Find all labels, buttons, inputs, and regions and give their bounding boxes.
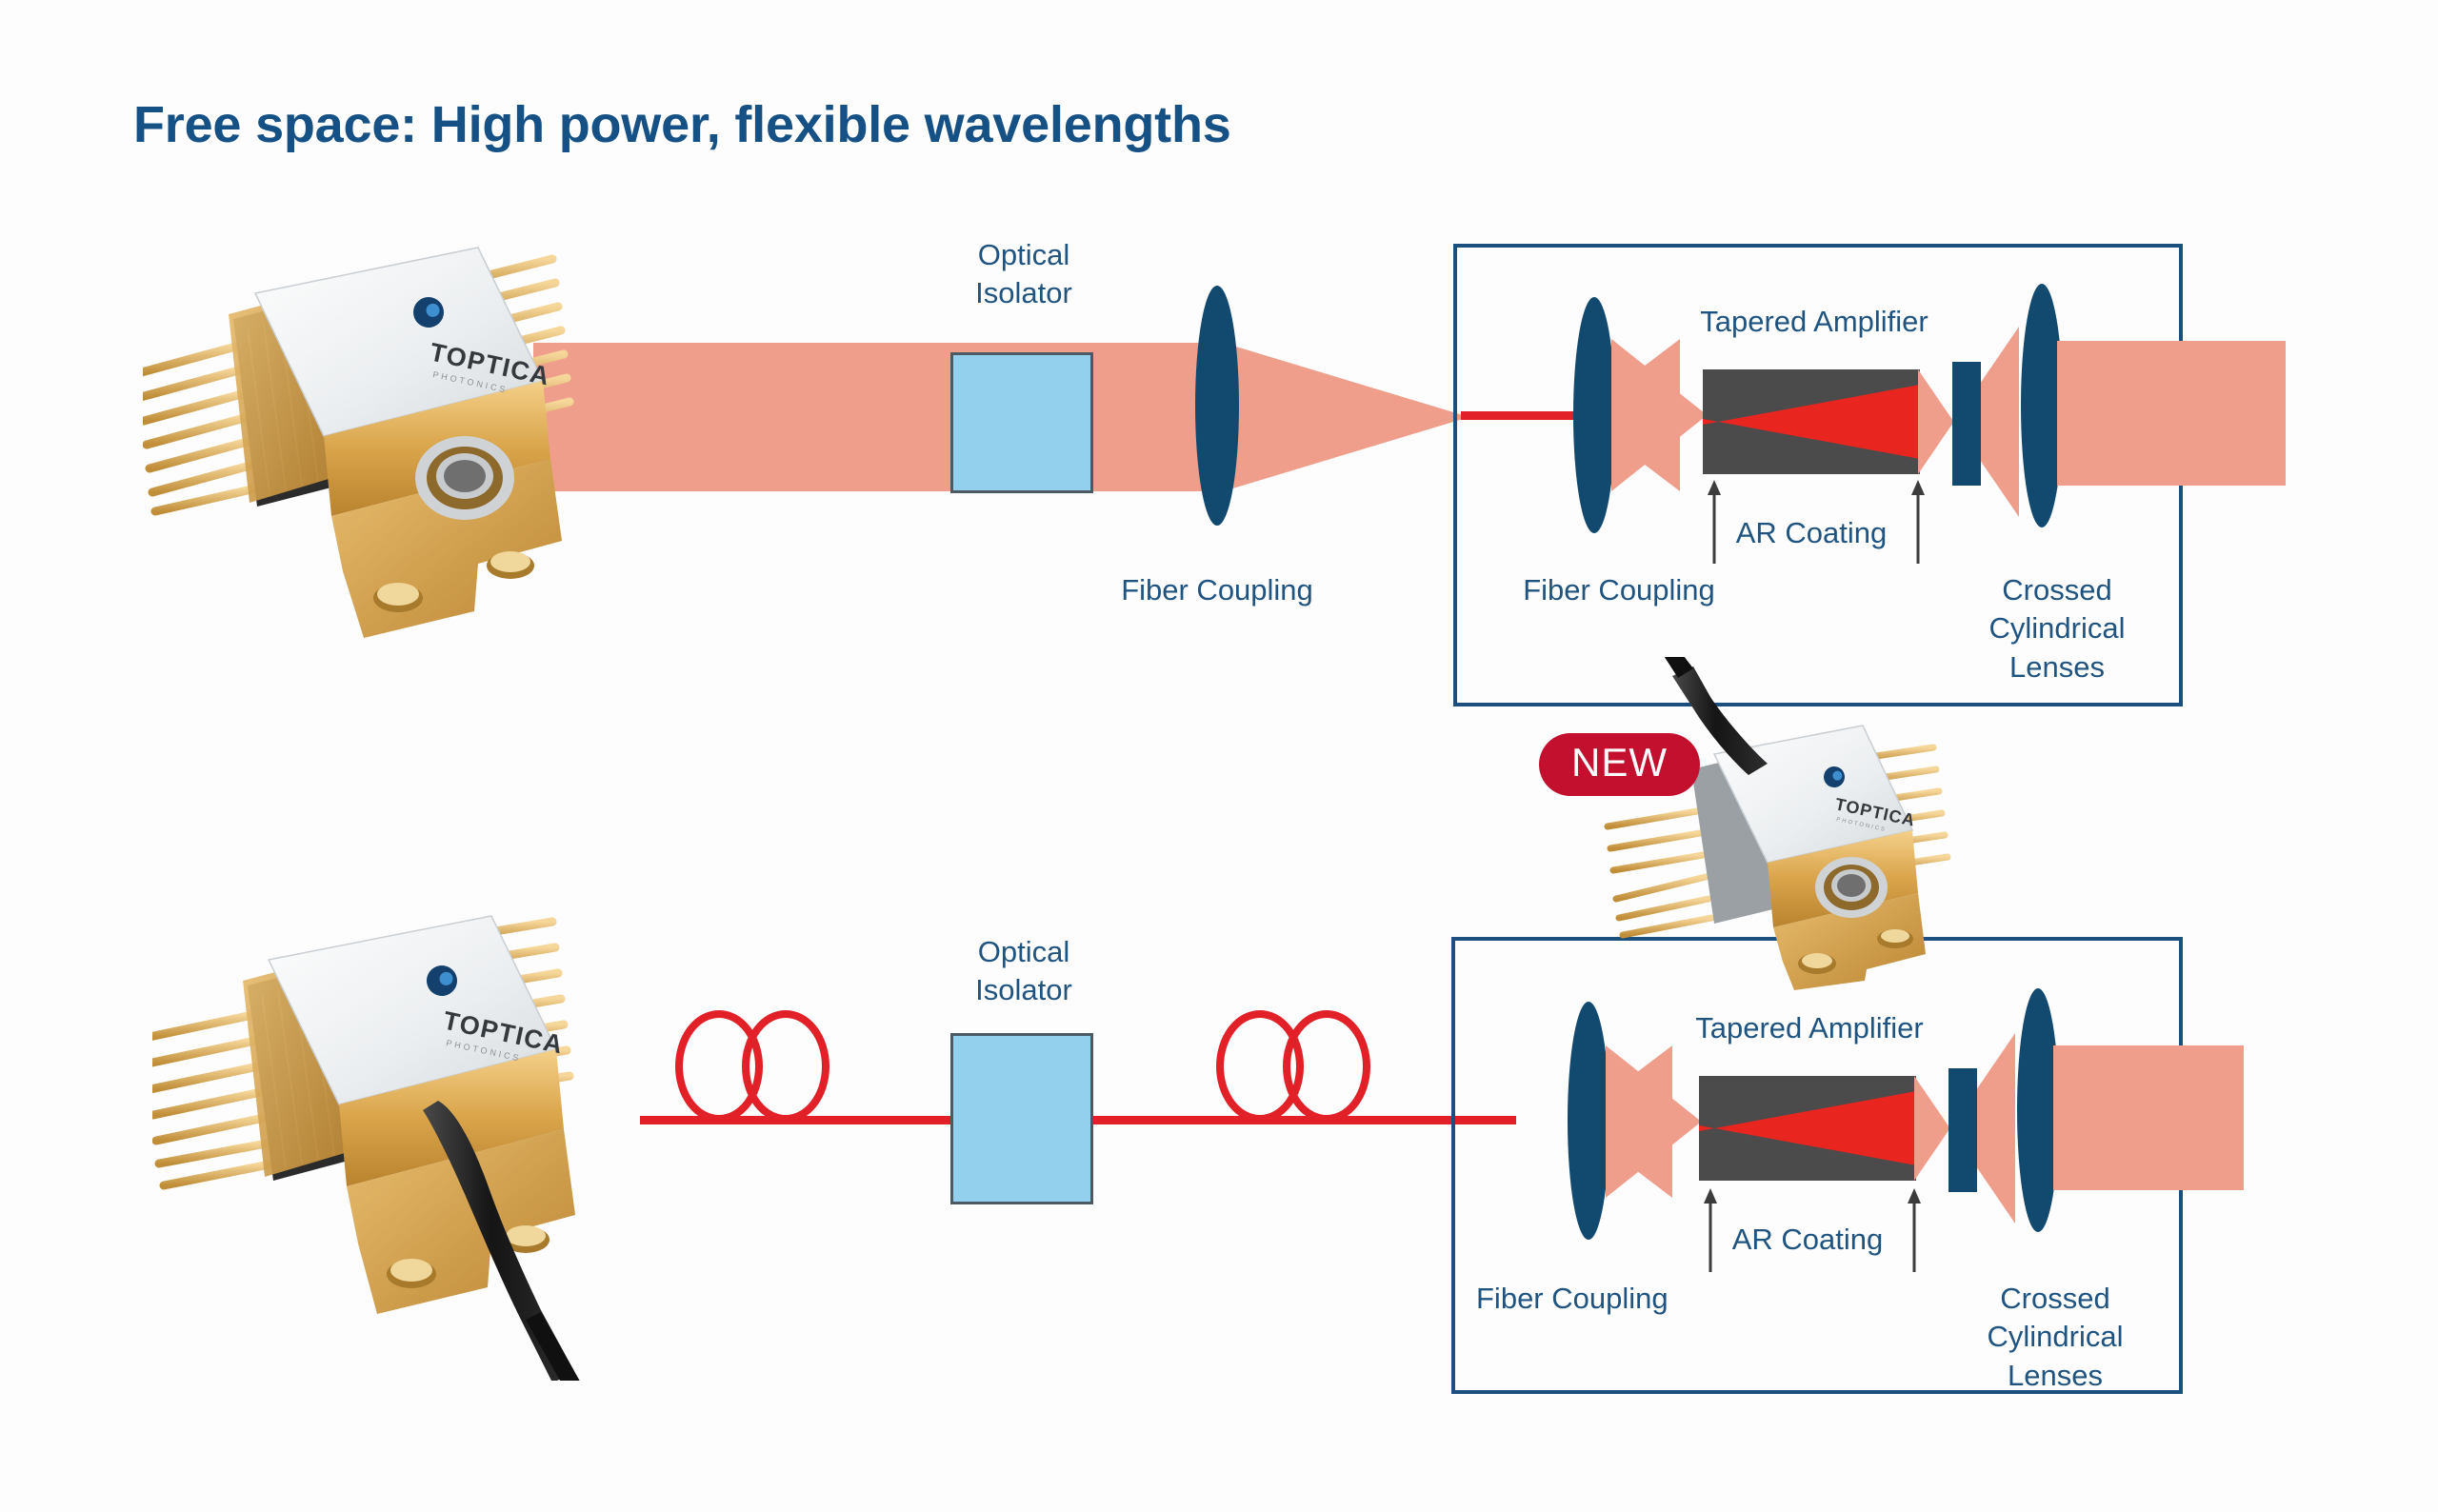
diagram-canvas: Free space: High power, flexible wavelen… [0, 0, 2438, 1512]
amplifier-taper-top [1703, 369, 1920, 474]
fiber-loop-right [1208, 1009, 1389, 1124]
cylindrical-lens-bar-bottom [1948, 1068, 1977, 1192]
optical-isolator-top [950, 352, 1093, 493]
tapered-amplifier-label-top: Tapered Amplifier [1671, 303, 1957, 341]
beam-focus-into-chip-top [1611, 339, 1707, 491]
cylindrical-lens-bar-top [1952, 362, 1981, 486]
beam-output-bottom [2053, 1045, 2244, 1190]
amplifier-taper-bottom [1699, 1076, 1916, 1181]
laser-diode-module-bottom: TOPTICA PHOTONICS [152, 914, 686, 1381]
tapered-amplifier-label-bottom: Tapered Amplifier [1667, 1009, 1952, 1047]
optical-isolator-label-bottom: Optical Isolator [914, 933, 1133, 1010]
crossed-cylindrical-lenses-label-bottom: Crossed Cylindrical Lenses [1931, 1280, 2179, 1395]
fiber-coupling-label-outer-top: Fiber Coupling [1074, 571, 1360, 609]
lens-fiber-coupling-outer-top [1195, 286, 1239, 526]
laser-diode-module-new: TOPTICA PHOTONICS [1581, 657, 2000, 990]
lens-fiber-coupling-inner-top [1573, 297, 1615, 533]
ar-coating-label-bottom: AR Coating [1665, 1221, 1950, 1259]
diode-pins-left-new [1608, 811, 1711, 935]
optical-isolator-bottom [950, 1033, 1093, 1204]
beam-focus-into-chip-bottom [1606, 1045, 1701, 1198]
page-title: Free space: High power, flexible wavelen… [133, 95, 1231, 154]
ar-coating-label-top: AR Coating [1669, 514, 1954, 552]
optical-isolator-label-top: Optical Isolator [914, 236, 1133, 313]
beam-output-top [2057, 341, 2286, 486]
fiber-coupling-label-inner-top: Fiber Coupling [1476, 571, 1762, 609]
lens-fiber-coupling-inner-bottom [1568, 1002, 1609, 1240]
beam-converging-top [1217, 341, 1465, 493]
new-badge: NEW [1539, 733, 1700, 796]
fiber-coupling-label-bottom: Fiber Coupling [1476, 1280, 1781, 1318]
fiber-loop-left [667, 1009, 848, 1124]
laser-diode-module-top: TOPTICA PHOTONICS [143, 238, 638, 647]
